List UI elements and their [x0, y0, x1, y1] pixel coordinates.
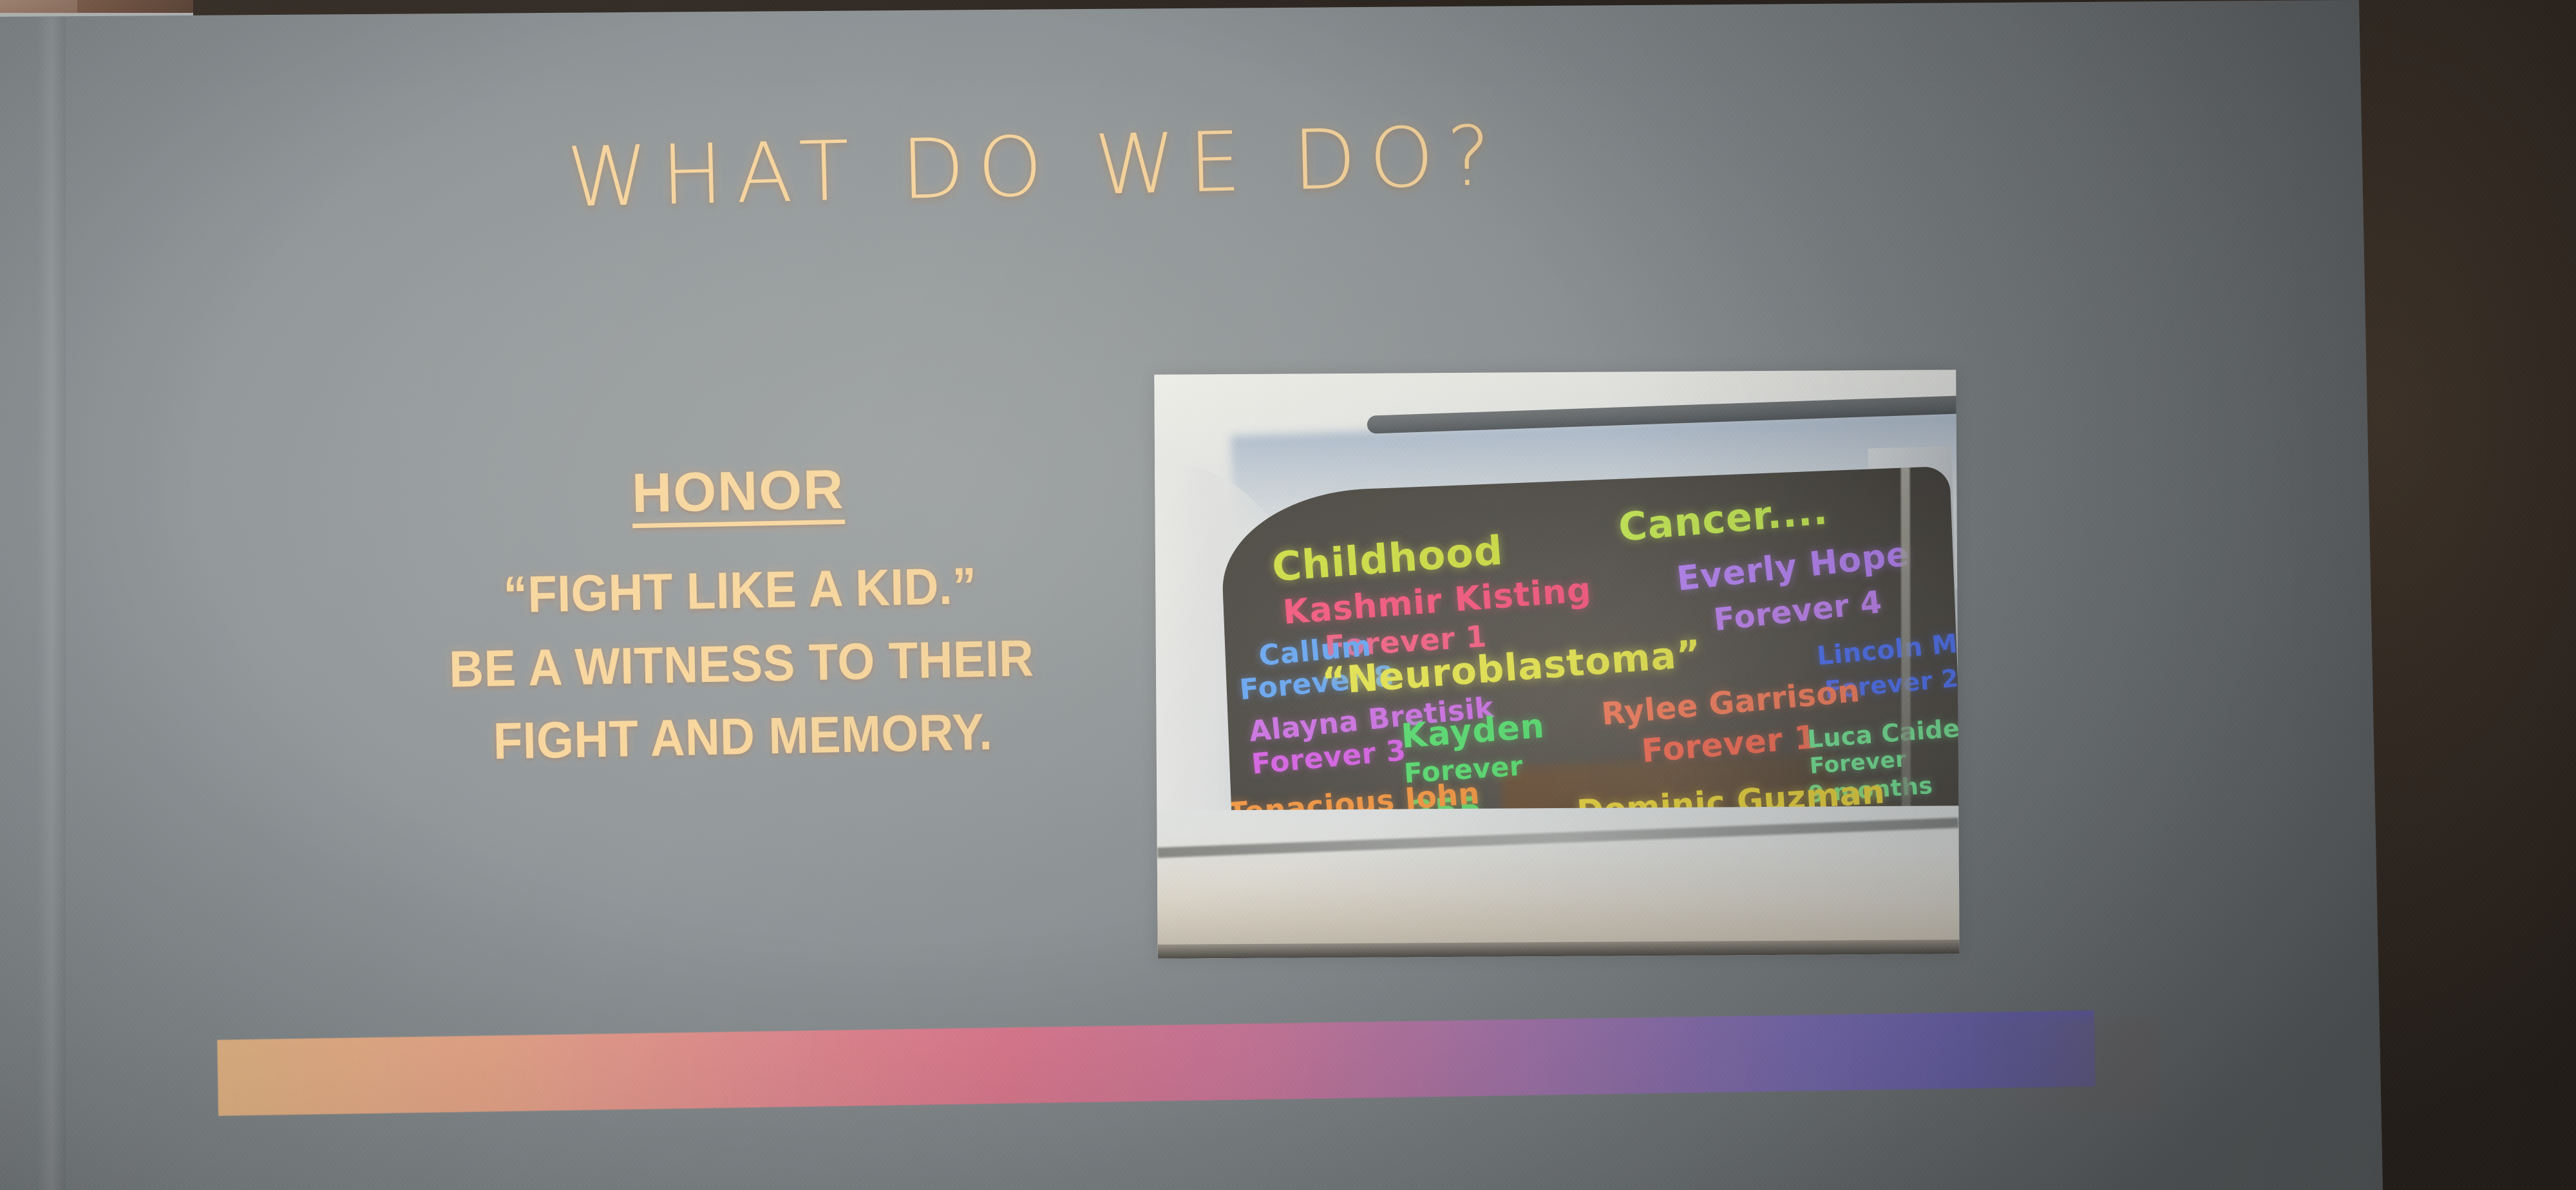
slide-body-line-1: “FIGHT LIKE A KID.” [386, 547, 1094, 634]
slide-body-block: HONOR “FIGHT LIKE A KID.” BE A WITNESS T… [357, 457, 1123, 780]
projection-screen: WHAT DO WE DO? HONOR “FIGHT LIKE A KID.”… [0, 0, 2383, 1190]
marker-text-everly-forever: Forever 4 [1712, 587, 1884, 637]
marker-text-cancer: Cancer.... [1617, 491, 1830, 548]
slide-accent-bar-fade [1964, 1016, 2158, 1116]
marker-text-luca-caiden: Luca Caiden [1806, 715, 1960, 753]
marker-text-luca-forever: Forever [1809, 748, 1908, 778]
marker-text-rylee-garrison: Rylee Garrison [1600, 675, 1862, 732]
slide-body-line-2: BE A WITNESS TO THEIR [388, 620, 1095, 707]
screen-fabric-seam [37, 17, 66, 1190]
slide-photo-car-window: Childhood Cancer.... Kashmir Kisting For… [1154, 370, 1960, 959]
marker-text-lincoln-m: Lincoln M [1816, 631, 1959, 670]
screenshot-root: WHAT DO WE DO? HONOR “FIGHT LIKE A KID.”… [0, 0, 2576, 1190]
slide-body-line-3: FIGHT AND MEMORY. [389, 694, 1097, 780]
